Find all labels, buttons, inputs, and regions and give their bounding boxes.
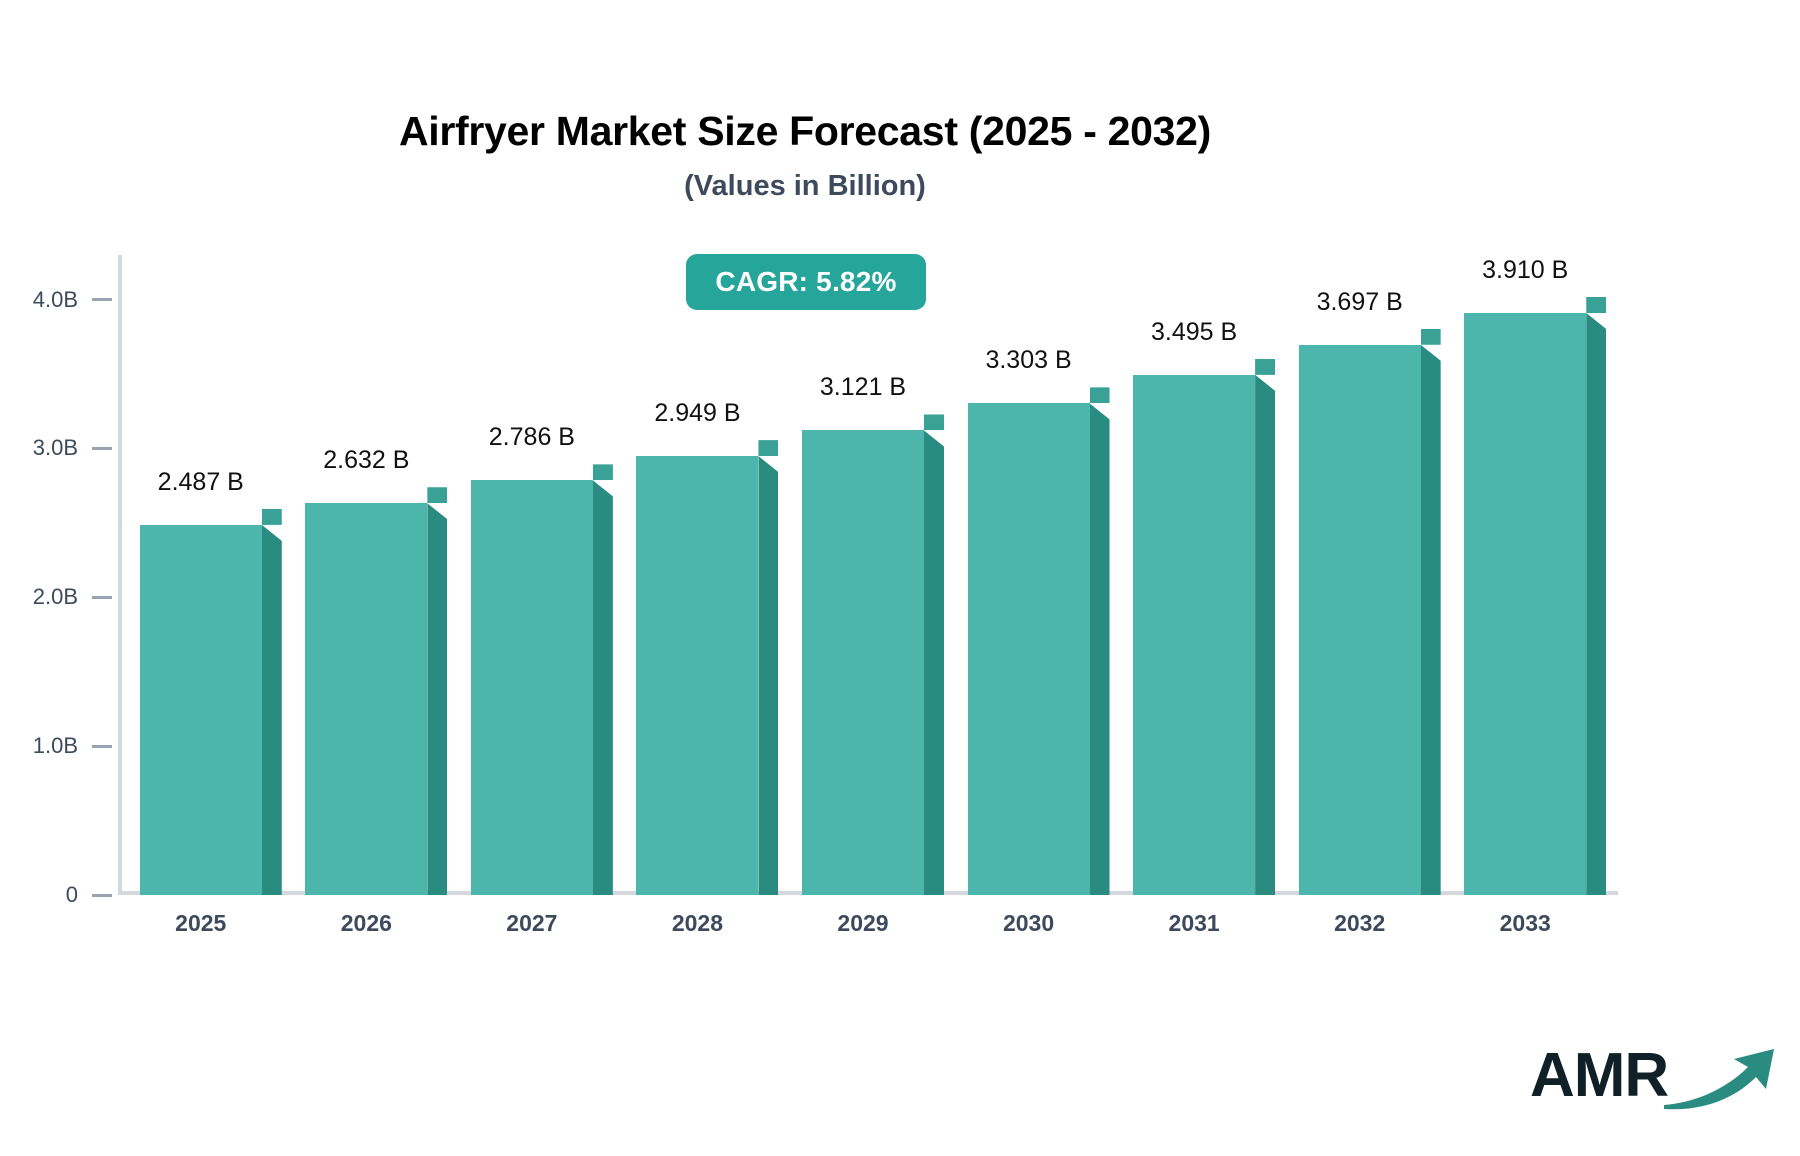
bar-group[interactable]: 3.697 B	[1299, 345, 1421, 895]
bar-front-face[interactable]	[1464, 313, 1586, 895]
bar-front-face[interactable]	[636, 456, 758, 895]
bar-group[interactable]: 2.949 B	[636, 456, 758, 895]
bar-side-face	[1090, 403, 1110, 895]
bar-top-face	[1255, 359, 1275, 375]
chart-container: Airfryer Market Size Forecast (2025 - 20…	[0, 0, 1800, 1156]
x-axis-category-label: 2029	[837, 910, 888, 937]
bar-top-face	[1421, 329, 1441, 345]
y-axis-tick: 0	[0, 883, 112, 907]
x-axis-category-label: 2030	[1003, 910, 1054, 937]
bar-value-label: 3.697 B	[1317, 288, 1403, 317]
x-axis-category-label: 2033	[1500, 910, 1551, 937]
y-axis-tick-label: 3.0B	[33, 435, 78, 461]
bar-front-face[interactable]	[305, 503, 427, 895]
bar-side-face	[593, 480, 613, 895]
bar-top-face	[924, 414, 944, 430]
bar-front-face[interactable]	[802, 430, 924, 895]
bar-front-face[interactable]	[968, 403, 1090, 895]
bar-top-face	[1586, 297, 1606, 313]
bar-top-face	[427, 487, 447, 503]
chart-subtitle: (Values in Billion)	[0, 170, 1610, 203]
bar-side-face	[758, 456, 778, 895]
x-axis-category-label: 2026	[341, 910, 392, 937]
bar-side-face	[924, 430, 944, 895]
bar-group[interactable]: 3.121 B	[802, 430, 924, 895]
bar-front-face[interactable]	[471, 480, 593, 895]
y-axis-tick-mark	[92, 298, 112, 301]
bar-side-face	[1255, 375, 1275, 895]
x-axis-category-label: 2032	[1334, 910, 1385, 937]
bar-side-face	[1586, 313, 1606, 895]
bar-value-label: 2.949 B	[654, 399, 740, 428]
y-axis-tick-mark	[92, 894, 112, 897]
bar-group[interactable]: 3.910 B	[1464, 313, 1586, 895]
y-axis-tick: 1.0B	[0, 734, 112, 758]
bar-top-face	[262, 509, 282, 525]
y-axis-tick-mark	[92, 745, 112, 748]
bar-side-face	[1421, 345, 1441, 895]
bar-front-face[interactable]	[1299, 345, 1421, 895]
x-axis-category-label: 2025	[175, 910, 226, 937]
bar-side-face	[262, 525, 282, 895]
trend-arrow-up-icon	[1662, 1045, 1782, 1116]
amr-logo-text: AMR	[1530, 1045, 1668, 1107]
bar-group[interactable]: 2.487 B	[140, 525, 262, 895]
bar-top-face	[1090, 387, 1110, 403]
plot-area: 2.487 B2.632 B2.786 B2.949 B3.121 B3.303…	[118, 255, 1608, 895]
bar-front-face[interactable]	[1133, 375, 1255, 895]
y-axis-tick-label: 0	[66, 882, 78, 908]
bar-top-face	[758, 440, 778, 456]
x-axis-category-label: 2028	[672, 910, 723, 937]
y-axis-tick-label: 1.0B	[33, 733, 78, 759]
bar-value-label: 2.487 B	[158, 468, 244, 497]
bar-value-label: 2.632 B	[323, 446, 409, 475]
y-axis-tick-mark	[92, 447, 112, 450]
bar-side-face	[427, 503, 447, 895]
bar-value-label: 3.303 B	[985, 346, 1071, 375]
x-axis-category-label: 2031	[1169, 910, 1220, 937]
bar-front-face[interactable]	[140, 525, 262, 895]
bar-group[interactable]: 3.495 B	[1133, 375, 1255, 895]
bar-value-label: 2.786 B	[489, 423, 575, 452]
amr-logo: AMR	[1530, 1035, 1782, 1116]
x-axis-category-label: 2027	[506, 910, 557, 937]
y-axis-tick: 2.0B	[0, 585, 112, 609]
bar-top-face	[593, 464, 613, 480]
y-axis-ticks: 01.0B2.0B3.0B4.0B	[0, 255, 112, 895]
bar-value-label: 3.495 B	[1151, 318, 1237, 347]
y-axis-tick-label: 2.0B	[33, 584, 78, 610]
cagr-badge: CAGR: 5.82%	[686, 254, 926, 310]
bar-group[interactable]: 2.786 B	[471, 480, 593, 895]
y-axis-tick-label: 4.0B	[33, 287, 78, 313]
bar-group[interactable]: 2.632 B	[305, 503, 427, 895]
bar-group[interactable]: 3.303 B	[968, 403, 1090, 895]
y-axis-tick: 3.0B	[0, 436, 112, 460]
bar-value-label: 3.121 B	[820, 373, 906, 402]
y-axis-tick: 4.0B	[0, 288, 112, 312]
bar-value-label: 3.910 B	[1482, 256, 1568, 285]
chart-title: Airfryer Market Size Forecast (2025 - 20…	[0, 108, 1610, 155]
y-axis-tick-mark	[92, 596, 112, 599]
